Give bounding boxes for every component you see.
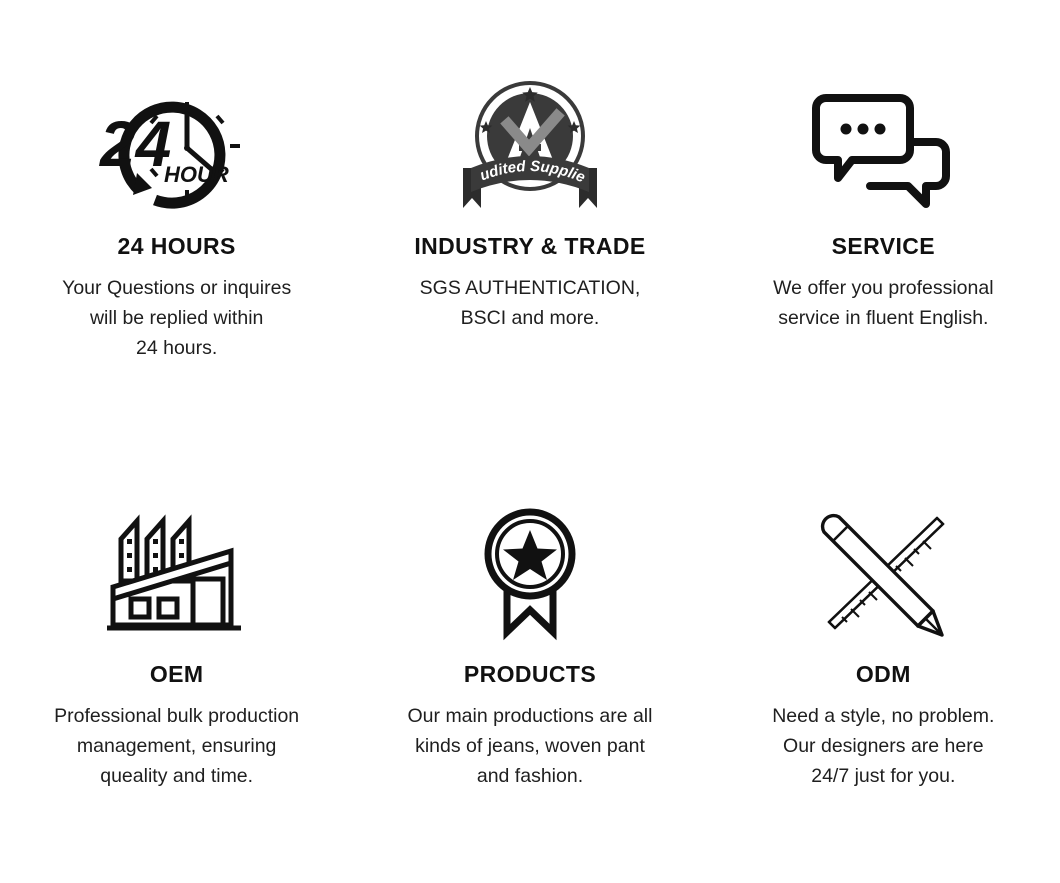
feature-card-industry-trade: Audited Supplier INDUSTRY & TRADE SGS AU… xyxy=(353,0,706,442)
clock-unit-label: HOUR xyxy=(164,162,229,187)
feature-card-products: PRODUCTS Our main productions are all ki… xyxy=(353,442,706,883)
desc-line: SGS AUTHENTICATION, xyxy=(420,273,641,303)
feature-description: Our main productions are all kinds of je… xyxy=(408,701,653,791)
feature-title: 24 HOURS xyxy=(118,234,236,259)
feature-card-oem: OEM Professional bulk production managem… xyxy=(0,442,353,883)
desc-line: Need a style, no problem. xyxy=(772,701,994,731)
factory-building-icon xyxy=(77,504,277,644)
desc-line: service in fluent English. xyxy=(773,303,993,333)
feature-title: OEM xyxy=(150,662,204,687)
ellipsis-dots-icon xyxy=(841,123,886,134)
feature-card-odm: ODM Need a style, no problem. Our design… xyxy=(707,442,1060,883)
clock-number-label: 24 xyxy=(99,108,171,180)
feature-title: SERVICE xyxy=(832,234,935,259)
desc-line: management, ensuring xyxy=(54,731,299,761)
chat-bubbles-icon xyxy=(783,76,983,216)
desc-line: will be replied within xyxy=(62,303,291,333)
pencil-ruler-icon xyxy=(783,504,983,644)
desc-line: Professional bulk production xyxy=(54,701,299,731)
feature-title: PRODUCTS xyxy=(464,662,596,687)
desc-line: kinds of jeans, woven pant xyxy=(408,731,653,761)
24-hour-clock-icon: 24 HOUR xyxy=(77,76,277,216)
feature-card-24-hours: 24 HOUR 24 HOURS Your Questions or inqui… xyxy=(0,0,353,442)
feature-title: INDUSTRY & TRADE xyxy=(414,234,645,259)
desc-line: We offer you professional xyxy=(773,273,993,303)
award-medal-star-icon xyxy=(430,504,630,644)
desc-line: 24 hours. xyxy=(62,333,291,363)
feature-card-service: SERVICE We offer you professional servic… xyxy=(707,0,1060,442)
desc-line: Our main productions are all xyxy=(408,701,653,731)
desc-line: BSCI and more. xyxy=(420,303,641,333)
feature-description: Your Questions or inquires will be repli… xyxy=(62,273,291,363)
feature-description: Professional bulk production management,… xyxy=(54,701,299,791)
feature-description: SGS AUTHENTICATION, BSCI and more. xyxy=(420,273,641,333)
desc-line: 24/7 just for you. xyxy=(772,761,994,791)
desc-line: Our designers are here xyxy=(772,731,994,761)
features-grid: 24 HOUR 24 HOURS Your Questions or inqui… xyxy=(0,0,1060,883)
feature-description: We offer you professional service in flu… xyxy=(773,273,993,333)
feature-description: Need a style, no problem. Our designers … xyxy=(772,701,994,791)
desc-line: Your Questions or inquires xyxy=(62,273,291,303)
desc-line: queality and time. xyxy=(54,761,299,791)
desc-line: and fashion. xyxy=(408,761,653,791)
feature-title: ODM xyxy=(856,662,911,687)
audited-supplier-badge-icon: Audited Supplier xyxy=(430,76,630,216)
